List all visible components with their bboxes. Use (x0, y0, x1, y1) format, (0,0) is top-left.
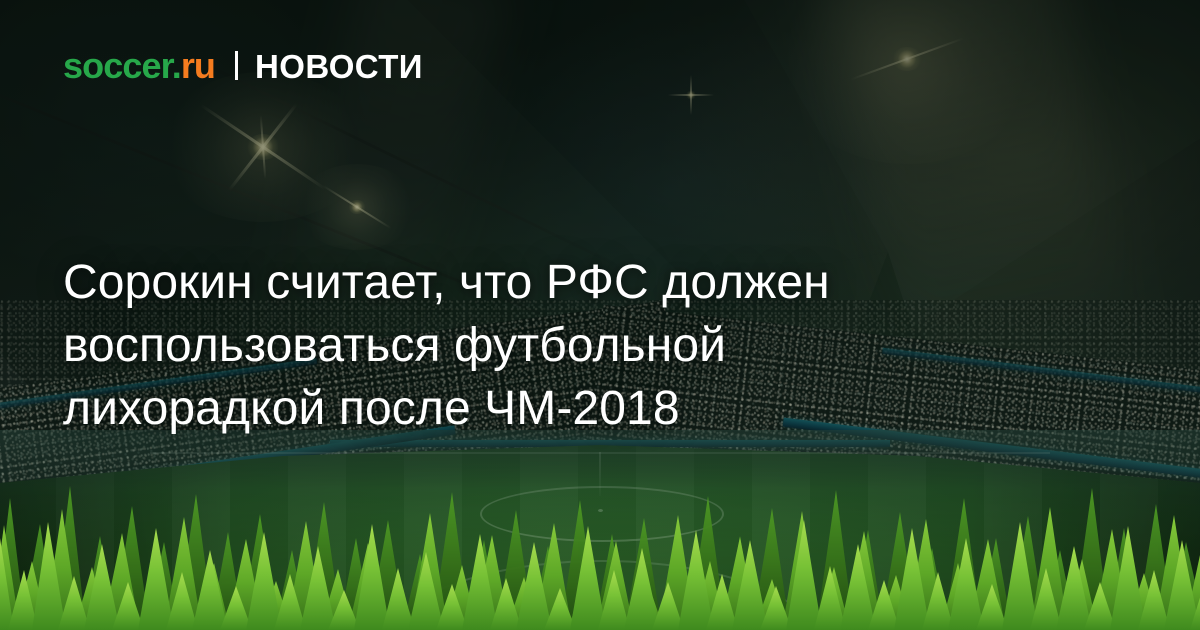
article-headline: Сорокин считает, что РФС должен воспольз… (63, 251, 1063, 440)
grass-layer-front (0, 512, 1200, 630)
section-label: НОВОСТИ (255, 50, 423, 83)
logo-word-soccer: soccer (63, 45, 172, 86)
logo-dot: . (172, 45, 181, 86)
soccer-ru-logo[interactable]: soccer.ru (63, 48, 215, 84)
header-separator (235, 51, 238, 80)
site-header: soccer.ru НОВОСТИ (63, 48, 423, 84)
social-share-card: soccer.ru НОВОСТИ Сорокин считает, что Р… (0, 0, 1200, 630)
logo-word-ru: ru (181, 45, 215, 86)
